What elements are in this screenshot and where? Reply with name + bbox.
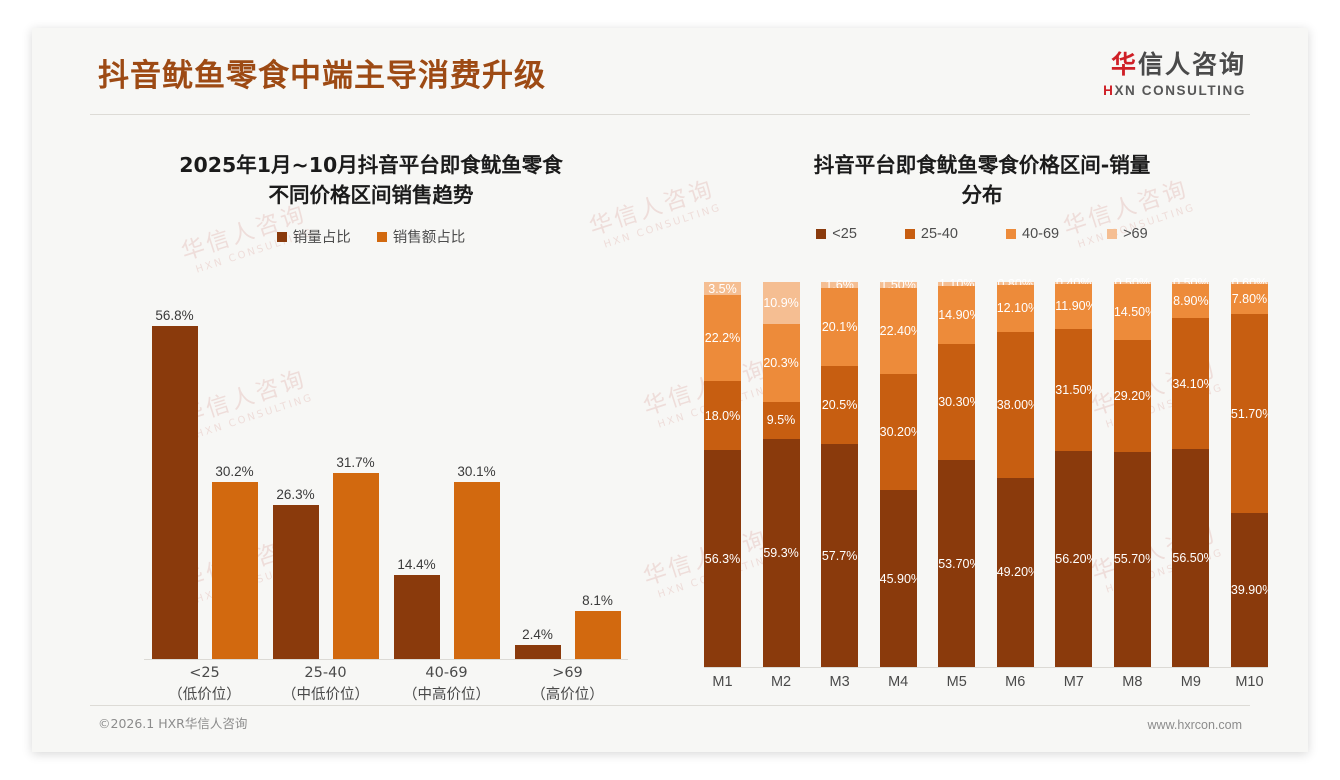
right-chart-category-labels: M1M2M3M4M5M6M7M8M9M10 xyxy=(704,674,1268,702)
legend-item-3[interactable]: >69 xyxy=(1107,226,1148,242)
segment-value-label: 49.20% xyxy=(997,565,1034,579)
header-divider xyxy=(90,114,1250,115)
bar-value-label: 14.4% xyxy=(397,557,435,572)
legend-item-1[interactable]: 销售额占比 xyxy=(377,226,466,247)
bar-value-label: 30.2% xyxy=(215,464,253,479)
stacked-bar-segment[interactable]: 20.5% xyxy=(821,366,858,445)
left-chart-plot: 56.8%30.2%26.3%31.7%14.4%30.1%2.4%8.1% <… xyxy=(66,276,676,718)
segment-value-label: 57.7% xyxy=(821,549,858,563)
segment-value-label: 22.40% xyxy=(880,324,917,338)
stacked-bar-segment[interactable]: 51.70% xyxy=(1231,314,1268,513)
logo-hua-char: 华 xyxy=(1111,50,1138,79)
segment-value-label: 11.90% xyxy=(1055,299,1092,313)
bar[interactable] xyxy=(152,326,198,659)
legend-label: 25-40 xyxy=(921,226,958,242)
category-label-main: <25 xyxy=(189,665,220,681)
left-chart-title: 2025年1月~10月抖音平台即食鱿鱼零食 不同价格区间销售趋势 xyxy=(66,128,676,210)
left-chart-panel: 2025年1月~10月抖音平台即食鱿鱼零食 不同价格区间销售趋势 销量占比销售额… xyxy=(66,128,676,718)
stacked-bar[interactable]: 0.80%12.10%38.00%49.20% xyxy=(997,282,1034,667)
legend-label: 销售额占比 xyxy=(393,226,466,247)
stacked-bar[interactable]: 0.50%8.90%34.10%56.50% xyxy=(1172,282,1209,667)
category-label: M10 xyxy=(1231,674,1268,702)
stacked-bar[interactable]: 3.5%22.2%18.0%56.3% xyxy=(704,282,741,667)
legend-swatch-icon xyxy=(377,232,387,242)
bar-column[interactable]: 30.1% xyxy=(454,286,500,659)
segment-value-label: 31.50% xyxy=(1055,383,1092,397)
category-label-main: 25-40 xyxy=(304,665,346,681)
left-chart-x-axis xyxy=(144,659,628,660)
legend-label: 40-69 xyxy=(1022,226,1059,242)
segment-value-label: 56.3% xyxy=(704,552,741,566)
segment-value-label: 9.5% xyxy=(763,413,800,427)
category-label: M1 xyxy=(704,674,741,702)
slide-header: 抖音鱿鱼零食中端主导消费升级 华信人咨询 HXN CONSULTING xyxy=(32,28,1308,116)
bar[interactable] xyxy=(515,645,561,659)
stacked-bar-segment[interactable]: 22.40% xyxy=(880,288,917,374)
stacked-bar-segment[interactable]: 56.20% xyxy=(1055,451,1092,667)
bar[interactable] xyxy=(454,482,500,659)
stacked-bar-segment[interactable]: 57.7% xyxy=(821,444,858,666)
stacked-bar-segment[interactable]: 56.50% xyxy=(1172,449,1209,667)
right-chart-stacked-bars: 3.5%22.2%18.0%56.3%10.9%20.3%9.5%59.3%1.… xyxy=(704,282,1268,667)
segment-value-label: 14.90% xyxy=(938,308,975,322)
category-label: M7 xyxy=(1055,674,1092,702)
stacked-bar[interactable]: 1.50%22.40%30.20%45.90% xyxy=(880,282,917,667)
stacked-bar-segment[interactable]: 14.50% xyxy=(1114,284,1151,340)
legend-swatch-icon xyxy=(816,229,826,239)
segment-value-label: 38.00% xyxy=(997,398,1034,412)
bar-value-label: 30.1% xyxy=(457,464,495,479)
left-chart-bar-groups: 56.8%30.2%26.3%31.7%14.4%30.1%2.4%8.1% xyxy=(144,286,628,659)
bar-value-label: 8.1% xyxy=(582,593,613,608)
stacked-bar[interactable]: 1.10%14.90%30.30%53.70% xyxy=(938,282,975,667)
stacked-bar-segment[interactable]: 10.9% xyxy=(763,282,800,324)
stacked-bar-segment[interactable]: 56.3% xyxy=(704,450,741,667)
bar-column[interactable]: 14.4% xyxy=(394,286,440,659)
category-label: M2 xyxy=(763,674,800,702)
right-chart-plot: 3.5%22.2%18.0%56.3%10.9%20.3%9.5%59.3%1.… xyxy=(682,276,1282,718)
stacked-bar[interactable]: 10.9%20.3%9.5%59.3% xyxy=(763,282,800,667)
category-label-sub: （高价位） xyxy=(507,684,628,706)
bar-column[interactable]: 26.3% xyxy=(273,286,319,659)
legend-swatch-icon xyxy=(277,232,287,242)
category-label-sub: （低价位） xyxy=(144,684,265,706)
left-chart-legend: 销量占比销售额占比 xyxy=(66,226,676,247)
stacked-bar-segment[interactable]: 9.5% xyxy=(763,402,800,439)
segment-value-label: 7.80% xyxy=(1231,292,1268,306)
segment-value-label: 45.90% xyxy=(880,572,917,586)
segment-value-label: 14.50% xyxy=(1114,305,1151,319)
stacked-bar-segment[interactable]: 12.10% xyxy=(997,285,1034,332)
right-chart-title: 抖音平台即食鱿鱼零食价格区间-销量 分布 xyxy=(682,128,1282,210)
legend-label: 销量占比 xyxy=(293,226,351,247)
category-label: M6 xyxy=(997,674,1034,702)
stacked-bar-segment[interactable]: 30.20% xyxy=(880,374,917,490)
stacked-bar-segment[interactable]: 14.90% xyxy=(938,286,975,343)
bar-group: 26.3%31.7% xyxy=(265,286,386,659)
legend-item-2[interactable]: 40-69 xyxy=(1006,226,1059,242)
segment-value-label: 8.90% xyxy=(1172,294,1209,308)
stacked-bar-segment[interactable]: 22.2% xyxy=(704,295,741,380)
bar-group: 14.4%30.1% xyxy=(386,286,507,659)
stacked-bar[interactable]: 1.6%20.1%20.5%57.7% xyxy=(821,282,858,667)
segment-value-label: 59.3% xyxy=(763,546,800,560)
segment-value-label: 34.10% xyxy=(1172,377,1209,391)
stacked-bar-segment[interactable]: 20.3% xyxy=(763,324,800,402)
bar-group: 56.8%30.2% xyxy=(144,286,265,659)
legend-label: >69 xyxy=(1123,226,1148,242)
category-label-sub: （中高价位） xyxy=(386,684,507,706)
bar[interactable] xyxy=(575,611,621,659)
legend-swatch-icon xyxy=(1107,229,1117,239)
bar[interactable] xyxy=(273,505,319,659)
bar[interactable] xyxy=(212,482,258,659)
stacked-bar-segment[interactable]: 11.90% xyxy=(1055,284,1092,330)
page-title: 抖音鱿鱼零食中端主导消费升级 xyxy=(98,50,546,95)
right-chart-panel: 抖音平台即食鱿鱼零食价格区间-销量 分布 <2525-4040-69>69 3.… xyxy=(682,128,1282,718)
segment-value-label: 10.9% xyxy=(763,296,800,310)
stacked-bar-segment[interactable]: 34.10% xyxy=(1172,318,1209,449)
logo-en-rest: XN CONSULTING xyxy=(1114,83,1246,98)
segment-value-label: 56.20% xyxy=(1055,552,1092,566)
logo-h-char: H xyxy=(1103,83,1114,98)
footer-divider xyxy=(90,705,1250,706)
stacked-bar-segment[interactable]: 30.30% xyxy=(938,344,975,461)
stacked-bar-segment[interactable]: 53.70% xyxy=(938,460,975,667)
bar-column[interactable]: 30.2% xyxy=(212,286,258,659)
category-label-sub: （中低价位） xyxy=(265,684,386,706)
category-label: M8 xyxy=(1114,674,1151,702)
category-label: M4 xyxy=(880,674,917,702)
bar-column[interactable]: 2.4% xyxy=(515,286,561,659)
logo-cn-rest: 信人咨询 xyxy=(1138,50,1246,79)
legend-item-1[interactable]: 25-40 xyxy=(905,226,958,242)
stacked-bar[interactable]: 0.40%11.90%31.50%56.20% xyxy=(1055,282,1092,667)
legend-swatch-icon xyxy=(905,229,915,239)
left-chart-title-line2: 不同价格区间销售趋势 xyxy=(66,180,676,210)
segment-value-label: 20.3% xyxy=(763,356,800,370)
segment-value-label: 55.70% xyxy=(1114,552,1151,566)
legend-item-0[interactable]: <25 xyxy=(816,226,857,242)
segment-value-label: 30.30% xyxy=(938,395,975,409)
left-chart-title-line1: 2025年1月~10月抖音平台即食鱿鱼零食 xyxy=(66,150,676,180)
segment-value-label: 56.50% xyxy=(1172,551,1209,565)
bar-group: 2.4%8.1% xyxy=(507,286,628,659)
segment-value-label: 20.1% xyxy=(821,320,858,334)
footer-copyright: ©2026.1 HXR华信人咨询 xyxy=(98,713,247,732)
stacked-bar-segment[interactable]: 29.20% xyxy=(1114,340,1151,452)
stacked-bar-segment[interactable]: 8.90% xyxy=(1172,284,1209,318)
segment-value-label: 3.5% xyxy=(704,282,741,296)
segment-value-label: 22.2% xyxy=(704,331,741,345)
stacked-bar-segment[interactable]: 7.80% xyxy=(1231,284,1268,314)
right-chart-x-axis xyxy=(704,667,1268,668)
segment-value-label: 39.90% xyxy=(1231,583,1268,597)
stacked-bar[interactable]: 0.50%14.50%29.20%55.70% xyxy=(1114,282,1151,667)
bar[interactable] xyxy=(333,473,379,659)
category-label: M3 xyxy=(821,674,858,702)
category-label-main: 40-69 xyxy=(425,665,467,681)
stacked-bar-segment[interactable]: 18.0% xyxy=(704,381,741,450)
stacked-bar-segment[interactable]: 3.5% xyxy=(704,282,741,295)
segment-value-label: 51.70% xyxy=(1231,407,1268,421)
company-logo: 华信人咨询 HXN CONSULTING xyxy=(1103,50,1246,100)
segment-value-label: 20.5% xyxy=(821,398,858,412)
bar-column[interactable]: 31.7% xyxy=(333,286,379,659)
stacked-bar-segment[interactable]: 39.90% xyxy=(1231,513,1268,667)
segment-value-label: 53.70% xyxy=(938,557,975,571)
legend-label: <25 xyxy=(832,226,857,242)
stacked-bar-segment[interactable]: 31.50% xyxy=(1055,329,1092,450)
stacked-bar[interactable]: 0.60%7.80%51.70%39.90% xyxy=(1231,282,1268,667)
bar-value-label: 31.7% xyxy=(336,455,374,470)
stacked-bar-segment[interactable]: 20.1% xyxy=(821,288,858,365)
stacked-bar-segment[interactable]: 55.70% xyxy=(1114,452,1151,666)
slide-canvas: 抖音鱿鱼零食中端主导消费升级 华信人咨询 HXN CONSULTING 华信人咨… xyxy=(32,28,1308,752)
logo-chinese: 华信人咨询 xyxy=(1103,50,1246,80)
stacked-bar-segment[interactable]: 45.90% xyxy=(880,490,917,667)
bar-value-label: 56.8% xyxy=(155,308,193,323)
segment-value-label: 12.10% xyxy=(997,301,1034,315)
bar-value-label: 26.3% xyxy=(276,487,314,502)
stacked-bar-segment[interactable]: 38.00% xyxy=(997,332,1034,478)
bar[interactable] xyxy=(394,575,440,659)
bar-column[interactable]: 8.1% xyxy=(575,286,621,659)
segment-value-label: 29.20% xyxy=(1114,389,1151,403)
right-chart-legend: <2525-4040-69>69 xyxy=(682,226,1282,242)
legend-item-0[interactable]: 销量占比 xyxy=(277,226,351,247)
right-chart-title-line1: 抖音平台即食鱿鱼零食价格区间-销量 xyxy=(682,150,1282,180)
bar-column[interactable]: 56.8% xyxy=(152,286,198,659)
legend-swatch-icon xyxy=(1006,229,1016,239)
category-label: M5 xyxy=(938,674,975,702)
stacked-bar-segment[interactable]: 59.3% xyxy=(763,439,800,667)
category-label-main: >69 xyxy=(552,665,583,681)
bar-value-label: 2.4% xyxy=(522,627,553,642)
footer-website: www.hxrcon.com xyxy=(1148,718,1242,732)
segment-value-label: 18.0% xyxy=(704,409,741,423)
right-chart-title-line2: 分布 xyxy=(682,180,1282,210)
logo-english: HXN CONSULTING xyxy=(1103,82,1246,100)
category-label: M9 xyxy=(1172,674,1209,702)
segment-value-label: 30.20% xyxy=(880,425,917,439)
stacked-bar-segment[interactable]: 49.20% xyxy=(997,478,1034,667)
